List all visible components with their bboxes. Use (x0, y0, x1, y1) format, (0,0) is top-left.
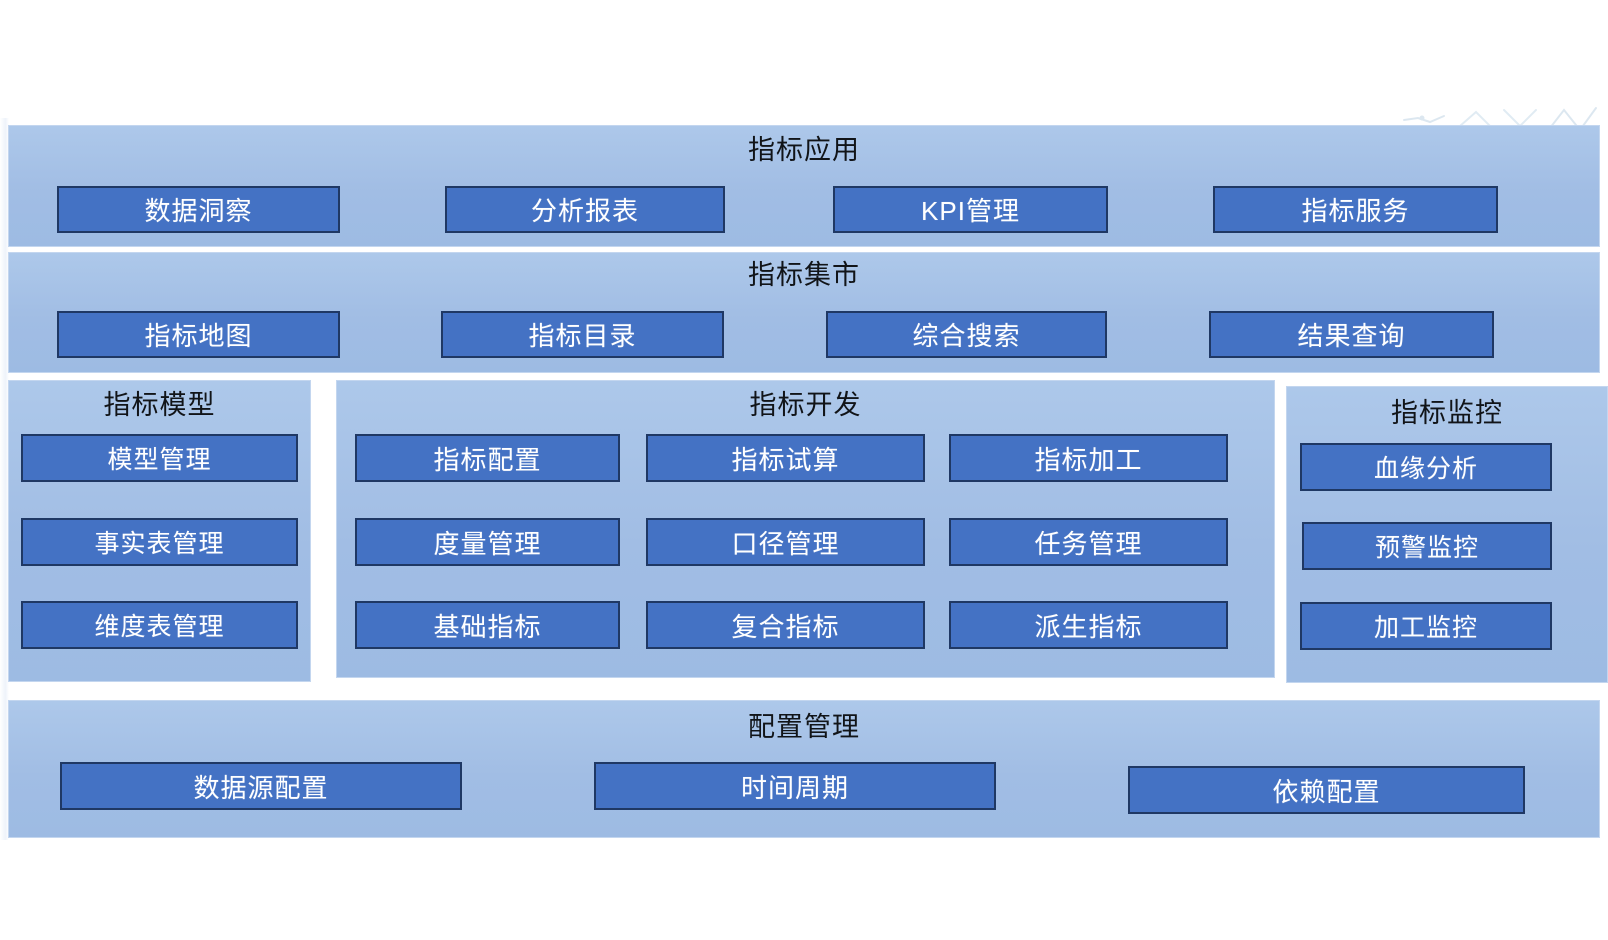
button-dependency-configuration[interactable]: 依赖配置 (1128, 766, 1525, 814)
button-task-management[interactable]: 任务管理 (949, 518, 1228, 566)
button-composite-indicator[interactable]: 复合指标 (646, 601, 925, 649)
section-title-indicator-marketplace: 指标集市 (9, 262, 1599, 289)
button-basic-indicator[interactable]: 基础指标 (355, 601, 620, 649)
button-indicator-service[interactable]: 指标服务 (1213, 186, 1498, 233)
section-title-configuration-management: 配置管理 (9, 714, 1599, 741)
button-indicator-map[interactable]: 指标地图 (57, 311, 340, 358)
button-model-management[interactable]: 模型管理 (21, 434, 298, 482)
section-title-indicator-application: 指标应用 (9, 137, 1599, 164)
section-title-indicator-monitoring: 指标监控 (1287, 400, 1607, 427)
section-title-indicator-model: 指标模型 (9, 392, 310, 419)
button-measure-management[interactable]: 度量管理 (355, 518, 620, 566)
button-data-source-configuration[interactable]: 数据源配置 (60, 762, 462, 810)
button-data-insight[interactable]: 数据洞察 (57, 186, 340, 233)
button-indicator-processing[interactable]: 指标加工 (949, 434, 1228, 482)
architecture-diagram: 指标应用 数据洞察 分析报表 KPI管理 指标服务 指标集市 指标地图 指标目录… (0, 0, 1608, 940)
button-result-query[interactable]: 结果查询 (1209, 311, 1494, 358)
button-indicator-configuration[interactable]: 指标配置 (355, 434, 620, 482)
button-indicator-trial-calculation[interactable]: 指标试算 (646, 434, 925, 482)
button-processing-monitoring[interactable]: 加工监控 (1300, 602, 1552, 650)
button-analysis-report[interactable]: 分析报表 (445, 186, 725, 233)
button-lineage-analysis[interactable]: 血缘分析 (1300, 443, 1552, 491)
button-kpi-management[interactable]: KPI管理 (833, 186, 1108, 233)
section-title-indicator-development: 指标开发 (337, 392, 1274, 419)
button-caliber-management[interactable]: 口径管理 (646, 518, 925, 566)
button-indicator-catalog[interactable]: 指标目录 (441, 311, 724, 358)
button-derived-indicator[interactable]: 派生指标 (949, 601, 1228, 649)
button-fact-table-management[interactable]: 事实表管理 (21, 518, 298, 566)
button-dimension-table-management[interactable]: 维度表管理 (21, 601, 298, 649)
button-time-period[interactable]: 时间周期 (594, 762, 996, 810)
button-alert-monitoring[interactable]: 预警监控 (1302, 522, 1552, 570)
button-comprehensive-search[interactable]: 综合搜索 (826, 311, 1107, 358)
